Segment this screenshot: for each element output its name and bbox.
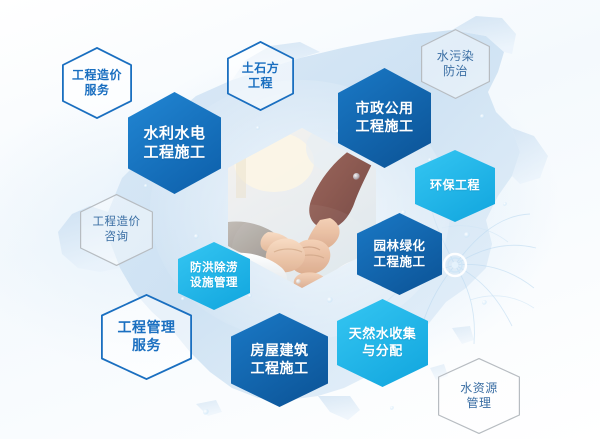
hexagon-label: 水污染 防治: [437, 49, 475, 80]
hexagon-yuanlin-lvhua[interactable]: 园林绿化 工程施工: [357, 213, 442, 295]
hexagon-label: 工程管理 服务: [118, 319, 176, 355]
hexagon-gongcheng-zaojia-zixun[interactable]: 工程造价 咨询: [80, 194, 153, 266]
hexagon-huanbao-gongcheng[interactable]: 环保工程: [415, 150, 495, 222]
hexagon-tushifang-gongcheng[interactable]: 土石方 工程: [227, 41, 294, 111]
hexagon-gongcheng-zaojia-fuwu[interactable]: 工程造价 服务: [62, 47, 132, 119]
hexagon-tianranshui-shouji[interactable]: 天然水收集 与分配: [337, 299, 428, 387]
hexagon-shuiwuran-fangzhi[interactable]: 水污染 防治: [421, 29, 490, 99]
hexagon-shuili-shuidian[interactable]: 水利水电 工程施工: [128, 92, 221, 194]
hexagon-label: 天然水收集 与分配: [349, 326, 417, 359]
hexagon-label: 水利水电 工程施工: [143, 124, 205, 162]
hexagon-shuiziyuan-guanli[interactable]: 水资源 管理: [438, 358, 520, 434]
hexagon-capability-diagram: 工程造价 服务 土石方 工程 水利水电 工程施工 市政公用 工程施工 水污染 防…: [0, 0, 600, 439]
hexagon-gongcheng-guanli-fuwu[interactable]: 工程管理 服务: [101, 294, 192, 380]
hexagon-fangwu-jianzhu[interactable]: 房屋建筑 工程施工: [231, 313, 328, 407]
hexagon-label: 土石方 工程: [242, 61, 280, 92]
hexagon-label: 园林绿化 工程施工: [373, 238, 425, 270]
hexagon-label: 房屋建筑 工程施工: [251, 342, 309, 378]
hexagon-label: 工程造价 服务: [72, 68, 122, 99]
hexagon-label: 市政公用 工程施工: [356, 100, 414, 136]
hexagon-label: 防洪除涝 设施管理: [190, 261, 238, 290]
hexagon-label: 工程造价 咨询: [93, 215, 141, 244]
hexagon-label: 环保工程: [430, 178, 480, 193]
hexagon-label: 水资源 管理: [460, 381, 498, 412]
